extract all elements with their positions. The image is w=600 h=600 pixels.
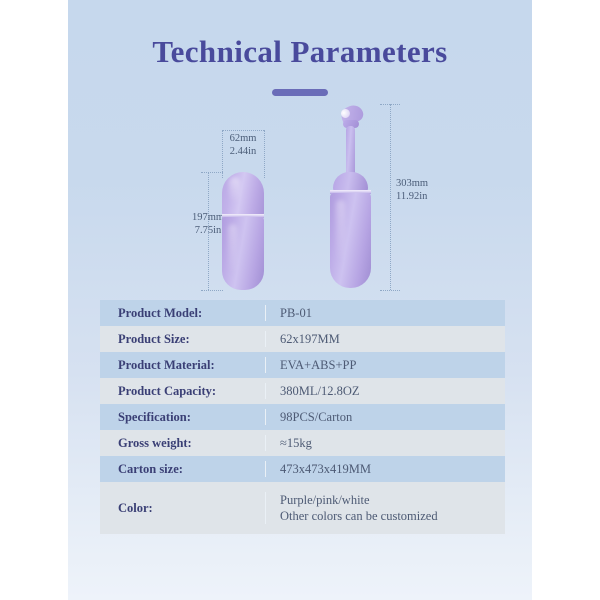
dimension-height-right: 303mm 11.92in: [396, 178, 474, 203]
dimension-height-left-mm: 197mm: [192, 212, 224, 223]
spec-label: Product Model:: [100, 306, 265, 321]
spec-value: Purple/pink/white Other colors can be cu…: [265, 492, 505, 524]
content-panel: Technical Parameters 62mm 2.44in 197mm 7…: [68, 0, 532, 600]
guide-height-left-bottom: [201, 290, 223, 291]
table-row: Specification: 98PCS/Carton: [100, 404, 505, 430]
dimension-height-right-in: 11.92in: [396, 191, 427, 202]
spec-value-line-2: Other colors can be customized: [280, 508, 505, 524]
dimension-width-in: 2.44in: [230, 146, 257, 157]
spec-label: Gross weight:: [100, 436, 265, 451]
dimension-width-mm: 62mm: [230, 133, 257, 144]
spec-label: Product Material:: [100, 358, 265, 373]
dimension-height-left-in: 7.75in: [195, 225, 222, 236]
spec-label: Product Capacity:: [100, 384, 265, 399]
page-title: Technical Parameters: [68, 34, 532, 70]
device-body-highlight: [228, 224, 237, 274]
table-row: Gross weight: ≈15kg: [100, 430, 505, 456]
guide-height-left-top: [201, 172, 223, 173]
table-row: Carton size: 473x473x419MM: [100, 456, 505, 482]
spec-label: Specification:: [100, 410, 265, 425]
page-root: Technical Parameters 62mm 2.44in 197mm 7…: [0, 0, 600, 600]
spec-value: PB-01: [265, 305, 505, 321]
title-underline-rule: [272, 89, 328, 96]
guide-width-span: [222, 130, 264, 131]
product-device-closed: [222, 172, 264, 290]
spec-value-line-1: Purple/pink/white: [280, 492, 505, 508]
guide-height-right-top: [380, 104, 400, 105]
table-row: Product Material: EVA+ABS+PP: [100, 352, 505, 378]
table-row: Product Capacity: 380ML/12.8OZ: [100, 378, 505, 404]
spec-label: Product Size:: [100, 332, 265, 347]
product-device-open: [321, 100, 379, 290]
guide-height-right-line: [390, 104, 391, 290]
spec-value: 380ML/12.8OZ: [265, 383, 505, 399]
table-row: Product Model: PB-01: [100, 300, 505, 326]
spec-value: 62x197MM: [265, 331, 505, 347]
nozzle-stem: [346, 126, 355, 178]
spec-value: 473x473x419MM: [265, 461, 505, 477]
spec-label: Color:: [100, 501, 265, 516]
product-illustration: 62mm 2.44in 197mm 7.75in 303mm 11.92in: [68, 100, 532, 290]
dimension-width: 62mm 2.44in: [208, 133, 278, 158]
table-row: Product Size: 62x197MM: [100, 326, 505, 352]
spec-value: EVA+ABS+PP: [265, 357, 505, 373]
spec-value: ≈15kg: [265, 435, 505, 451]
spec-table: Product Model: PB-01 Product Size: 62x19…: [100, 300, 505, 534]
guide-height-right-bottom: [380, 290, 400, 291]
table-row: Color: Purple/pink/white Other colors ca…: [100, 482, 505, 534]
device-open-body-highlight: [336, 200, 345, 262]
device-cap-highlight: [229, 177, 240, 203]
spec-value: 98PCS/Carton: [265, 409, 505, 425]
spec-label: Carton size:: [100, 462, 265, 477]
dimension-height-right-mm: 303mm: [396, 178, 428, 189]
